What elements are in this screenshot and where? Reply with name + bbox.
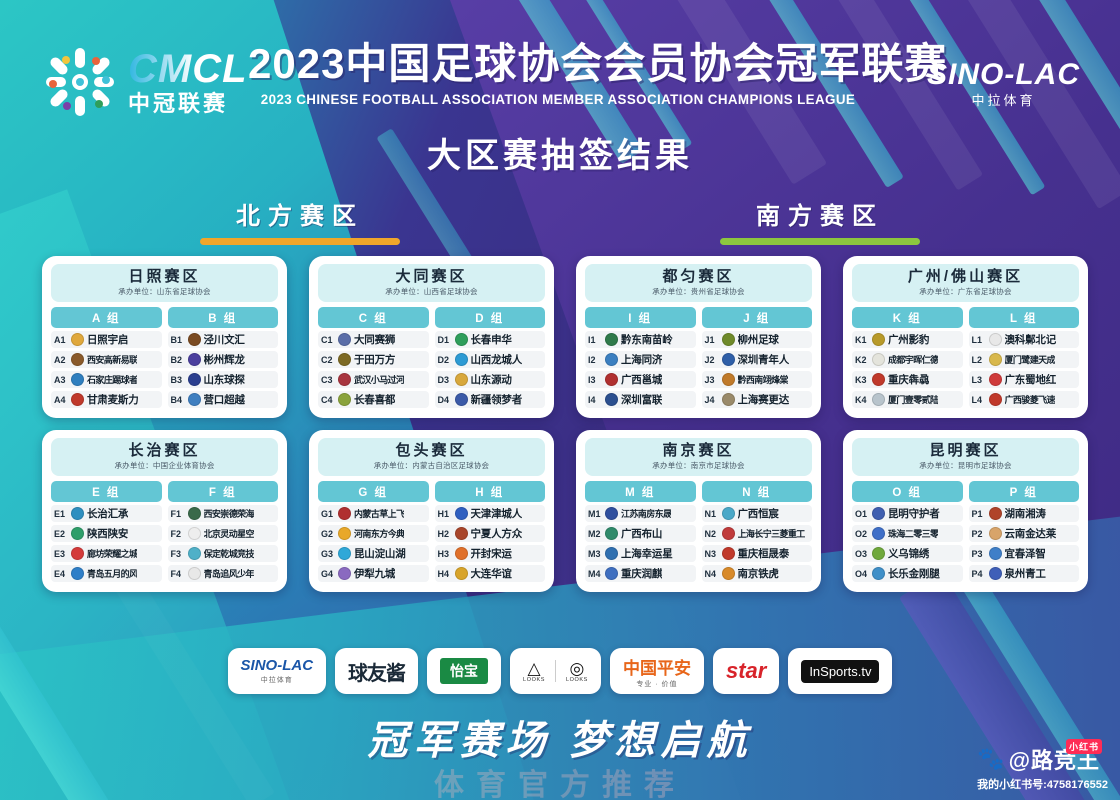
team-code: J1	[705, 335, 719, 345]
team-row[interactable]: L1澳科鄡北记	[969, 331, 1080, 348]
team-crest-icon	[605, 373, 618, 386]
team-code: I4	[588, 395, 602, 405]
team-code: O4	[855, 569, 869, 579]
team-code: I2	[588, 355, 602, 365]
looks-triangle-icon: △	[523, 660, 545, 677]
team-code: D2	[438, 355, 452, 365]
team-row[interactable]: B2彬州辉龙	[168, 351, 279, 368]
group-column: H 组H1天津津城人H2宁夏人方众H3开封宋运H4大连华谊	[435, 481, 546, 583]
team-row[interactable]: P1湖南湘涛	[969, 505, 1080, 522]
team-row[interactable]: E4青岛五月的风	[51, 565, 162, 582]
group-column: K 组K1广州影豹K2成都宇晖仁德K3重庆犇骉K4厦门壹零贰陆	[852, 307, 963, 409]
team-row[interactable]: I1黔东南苗岭	[585, 331, 696, 348]
team-crest-icon	[188, 333, 201, 346]
team-name: 上海长宁三菱重工	[738, 527, 805, 540]
team-crest-icon	[71, 567, 84, 580]
venue-name: 广州/佛山赛区	[852, 268, 1079, 285]
team-crest-icon	[605, 507, 618, 520]
venue-card-header: 日照赛区承办单位：山东省足球协会	[51, 264, 278, 302]
team-row[interactable]: P4泉州青工	[969, 565, 1080, 582]
group-columns: O 组O1昆明守护者O2珠海二零三零O3义乌锦绣O4长乐金刚腿P 组P1湖南湘涛…	[852, 481, 1079, 583]
team-row[interactable]: N1广西恒宸	[702, 505, 813, 522]
looks-label-a: LOOKS	[523, 677, 545, 683]
group-column: P 组P1湖南湘涛P2云南金达莱P3宜春泽智P4泉州青工	[969, 481, 1080, 583]
venue-card-header: 大同赛区承办单位：山西省足球协会	[318, 264, 545, 302]
group-columns: I 组I1黔东南苗岭I2上海同济I3广西邕城I4深圳富联J 组J1柳州足球J2深…	[585, 307, 812, 409]
team-row[interactable]: P2云南金达莱	[969, 525, 1080, 542]
poster: CMCL 中冠联赛 2023中国足球协会会员协会冠军联赛 2023 CHINES…	[0, 0, 1120, 800]
sponsor-insports-name: InSports.tv	[801, 660, 879, 683]
section-subtitle-text: 大区赛抽签结果	[427, 128, 693, 177]
team-crest-icon	[722, 353, 735, 366]
team-row[interactable]: A3石家庄踢球者	[51, 371, 162, 388]
team-name: 义乌锦绣	[888, 546, 929, 561]
team-name: 广西布山	[621, 526, 662, 541]
team-crest-icon	[188, 527, 201, 540]
cmcl-wordmark-cn: 中冠联赛	[128, 93, 248, 115]
sponsor-star-name: star	[726, 658, 766, 684]
team-code: I1	[588, 335, 602, 345]
team-row[interactable]: G4伊犁九城	[318, 565, 429, 582]
team-crest-icon	[338, 547, 351, 560]
team-name: 上海赛更达	[738, 392, 790, 407]
team-code: N1	[705, 509, 719, 519]
team-row[interactable]: J4上海赛更达	[702, 391, 813, 408]
group-title: O 组	[852, 481, 963, 502]
group-column: O 组O1昆明守护者O2珠海二零三零O3义乌锦绣O4长乐金刚腿	[852, 481, 963, 583]
team-code: B3	[171, 375, 185, 385]
team-name: 深圳富联	[621, 392, 662, 407]
team-row[interactable]: L4广西骏菱飞速	[969, 391, 1080, 408]
venue-name: 长治赛区	[51, 442, 278, 459]
team-code: E2	[54, 529, 68, 539]
team-name: 厦门鹭建天成	[1005, 353, 1055, 366]
sponsor-yibao-name: 怡宝	[440, 658, 488, 684]
team-crest-icon	[338, 507, 351, 520]
cmcl-logo: CMCL 中冠联赛	[42, 44, 248, 120]
team-row[interactable]: J1柳州足球	[702, 331, 813, 348]
team-row[interactable]: J3黔西南翊烽棠	[702, 371, 813, 388]
team-crest-icon	[71, 333, 84, 346]
team-name: 西安高新易联	[87, 353, 137, 366]
team-name: 广西邕城	[621, 372, 662, 387]
sponsor-sino-lac[interactable]: SINO-LAC 中拉体育	[228, 648, 327, 694]
sponsor-qiuyoujiang[interactable]: 球友酱	[335, 648, 418, 694]
team-name: 天津津城人	[471, 506, 523, 521]
team-row[interactable]: M2广西布山	[585, 525, 696, 542]
group-title: B 组	[168, 307, 279, 328]
venue-card: 日照赛区承办单位：山东省足球协会A 组A1日照宇启A2西安高新易联A3石家庄踢球…	[42, 256, 287, 418]
team-row[interactable]: O4长乐金刚腿	[852, 565, 963, 582]
team-code: J4	[705, 395, 719, 405]
team-code: J3	[705, 375, 719, 385]
team-crest-icon	[338, 333, 351, 346]
team-row[interactable]: E1长治汇承	[51, 505, 162, 522]
team-row[interactable]: E2陕西陕安	[51, 525, 162, 542]
team-crest-icon	[722, 373, 735, 386]
sponsor-pingan-sub: 专业 · 价值	[623, 679, 691, 689]
team-code: K1	[855, 335, 869, 345]
team-code: D1	[438, 335, 452, 345]
team-row[interactable]: N3重庆桓晟泰	[702, 545, 813, 562]
team-row[interactable]: F4青岛追风少年	[168, 565, 279, 582]
team-crest-icon	[455, 353, 468, 366]
team-row[interactable]: G3昆山淀山湖	[318, 545, 429, 562]
team-code: B2	[171, 355, 185, 365]
venue-card-header: 包头赛区承办单位：内蒙古自治区足球协会	[318, 438, 545, 476]
team-crest-icon	[872, 393, 885, 406]
looks-label-b: LOOKS	[566, 677, 588, 683]
team-code: A2	[54, 355, 68, 365]
team-row[interactable]: F3保定乾城竞技	[168, 545, 279, 562]
team-code: O3	[855, 549, 869, 559]
team-crest-icon	[71, 393, 84, 406]
team-code: M4	[588, 569, 602, 579]
team-name: 山西龙城人	[471, 352, 523, 367]
team-code: F1	[171, 509, 185, 519]
team-name: 青岛五月的风	[87, 567, 137, 580]
team-name: 成都宇晖仁德	[888, 353, 938, 366]
team-name: 山东源动	[471, 372, 512, 387]
group-column: L 组L1澳科鄡北记L2厦门鹭建天成L3广东蜀地红L4广西骏菱飞速	[969, 307, 1080, 409]
team-row[interactable]: I2上海同济	[585, 351, 696, 368]
team-code: H4	[438, 569, 452, 579]
venue-host: 承办单位：山东省足球协会	[51, 286, 278, 297]
group-title: H 组	[435, 481, 546, 502]
team-code: N3	[705, 549, 719, 559]
team-row[interactable]: O2珠海二零三零	[852, 525, 963, 542]
venue-card-header: 广州/佛山赛区承办单位：广东省足球协会	[852, 264, 1079, 302]
team-code: F2	[171, 529, 185, 539]
team-row[interactable]: M3上海幸运星	[585, 545, 696, 562]
venue-host: 承办单位：山西省足球协会	[318, 286, 545, 297]
team-name: 黔东南苗岭	[621, 332, 673, 347]
cmcl-wordmark-en: CMCL	[128, 49, 248, 89]
team-row[interactable]: H1天津津城人	[435, 505, 546, 522]
region-label-north: 北方赛区	[200, 196, 400, 231]
team-name: 澳科鄡北记	[1005, 332, 1057, 347]
team-crest-icon	[872, 547, 885, 560]
venue-card-header: 都匀赛区承办单位：贵州省足球协会	[585, 264, 812, 302]
venue-name: 大同赛区	[318, 268, 545, 285]
team-code: A1	[54, 335, 68, 345]
team-name: 泾川文汇	[204, 332, 245, 347]
team-row[interactable]: O1昆明守护者	[852, 505, 963, 522]
cmcl-wordmark: CMCL 中冠联赛	[128, 49, 248, 115]
group-title: K 组	[852, 307, 963, 328]
team-crest-icon	[455, 393, 468, 406]
region-label-south: 南方赛区	[720, 196, 920, 231]
team-row[interactable]: P3宜春泽智	[969, 545, 1080, 562]
team-row[interactable]: A4甘肃麦斯力	[51, 391, 162, 408]
team-name: 广州影豹	[888, 332, 929, 347]
team-row[interactable]: C3武汉小马过河	[318, 371, 429, 388]
team-row[interactable]: F2北京灵动星空	[168, 525, 279, 542]
team-crest-icon	[188, 393, 201, 406]
team-code: P2	[972, 529, 986, 539]
team-row[interactable]: A1日照宇启	[51, 331, 162, 348]
team-row[interactable]: K2成都宇晖仁德	[852, 351, 963, 368]
team-row[interactable]: I4深圳富联	[585, 391, 696, 408]
team-row[interactable]: G2河南东方今典	[318, 525, 429, 542]
team-code: C3	[321, 375, 335, 385]
section-subtitle: 大区赛抽签结果	[0, 128, 1120, 177]
venue-host: 承办单位：广东省足球协会	[852, 286, 1079, 297]
venue-card: 广州/佛山赛区承办单位：广东省足球协会K 组K1广州影豹K2成都宇晖仁德K3重庆…	[843, 256, 1088, 418]
team-name: 广东蜀地红	[1005, 372, 1057, 387]
team-row[interactable]: C1大同赛狮	[318, 331, 429, 348]
team-name: 甘肃麦斯力	[87, 392, 139, 407]
team-name: 昆山淀山湖	[354, 546, 406, 561]
team-crest-icon	[722, 507, 735, 520]
team-code: F3	[171, 549, 185, 559]
team-row[interactable]: G1内蒙古草上飞	[318, 505, 429, 522]
venue-card-header: 南京赛区承办单位：南京市足球协会	[585, 438, 812, 476]
footer-slogan: 冠军赛场 梦想启航	[0, 708, 1120, 766]
page-title: 2023中国足球协会会员协会冠军联赛 2023 CHINESE FOOTBALL…	[248, 42, 868, 107]
team-code: P4	[972, 569, 986, 579]
team-name: 彬州辉龙	[204, 352, 245, 367]
team-code: N2	[705, 529, 719, 539]
team-name: 青岛追风少年	[204, 567, 254, 580]
sponsor-insports[interactable]: InSports.tv	[788, 648, 892, 694]
team-crest-icon	[605, 353, 618, 366]
team-name: 武汉小马过河	[354, 373, 404, 386]
team-row[interactable]: D2山西龙城人	[435, 351, 546, 368]
team-crest-icon	[872, 527, 885, 540]
team-name: 重庆润麒	[621, 566, 662, 581]
team-name: 日照宇启	[87, 332, 128, 347]
team-name: 重庆桓晟泰	[738, 546, 790, 561]
team-row[interactable]: K3重庆犇骉	[852, 371, 963, 388]
venue-card: 大同赛区承办单位：山西省足球协会C 组C1大同赛狮C2于田万方C3武汉小马过河C…	[309, 256, 554, 418]
team-name: 宜春泽智	[1005, 546, 1046, 561]
team-row[interactable]: H2宁夏人方众	[435, 525, 546, 542]
team-crest-icon	[989, 393, 1002, 406]
team-name: 开封宋运	[471, 546, 512, 561]
team-row[interactable]: M4重庆润麒	[585, 565, 696, 582]
team-row[interactable]: N2上海长宁三菱重工	[702, 525, 813, 542]
team-crest-icon	[188, 547, 201, 560]
cmcl-snowflake-icon	[42, 44, 118, 120]
team-crest-icon	[722, 527, 735, 540]
looks-mark-a: △ LOOKS	[523, 660, 545, 683]
team-code: O2	[855, 529, 869, 539]
team-row[interactable]: B1泾川文汇	[168, 331, 279, 348]
team-code: G2	[321, 529, 335, 539]
team-crest-icon	[455, 527, 468, 540]
team-code: G4	[321, 569, 335, 579]
team-row[interactable]: K1广州影豹	[852, 331, 963, 348]
header: CMCL 中冠联赛 2023中国足球协会会员协会冠军联赛 2023 CHINES…	[0, 0, 1120, 130]
team-name: 内蒙古草上飞	[354, 507, 404, 520]
team-row[interactable]: I3广西邕城	[585, 371, 696, 388]
group-title: M 组	[585, 481, 696, 502]
team-crest-icon	[605, 547, 618, 560]
team-row[interactable]: L3广东蜀地红	[969, 371, 1080, 388]
group-column: B 组B1泾川文汇B2彬州辉龙B3山东球探B4营口超越	[168, 307, 279, 409]
group-title: N 组	[702, 481, 813, 502]
team-code: B4	[171, 395, 185, 405]
team-name: 长春喜都	[354, 392, 395, 407]
team-crest-icon	[605, 567, 618, 580]
team-row[interactable]: C4长春喜都	[318, 391, 429, 408]
watermark-handle-row: 🐾 @路竞王 小红书	[977, 743, 1108, 775]
team-code: E3	[54, 549, 68, 559]
watermark-id: 我的小红书号:4758176552	[977, 776, 1108, 792]
sino-lac-wordmark-en: SINO-LAC	[927, 58, 1080, 92]
team-crest-icon	[605, 333, 618, 346]
team-code: C1	[321, 335, 335, 345]
group-title: C 组	[318, 307, 429, 328]
team-name: 西安崇德荣海	[204, 507, 254, 520]
venue-card: 都匀赛区承办单位：贵州省足球协会I 组I1黔东南苗岭I2上海同济I3广西邕城I4…	[576, 256, 821, 418]
team-row[interactable]: B3山东球探	[168, 371, 279, 388]
group-column: J 组J1柳州足球J2深圳青年人J3黔西南翊烽棠J4上海赛更达	[702, 307, 813, 409]
team-crest-icon	[71, 353, 84, 366]
team-row[interactable]: B4营口超越	[168, 391, 279, 408]
team-code: L1	[972, 335, 986, 345]
paw-icon: 🐾	[977, 746, 1005, 772]
team-crest-icon	[188, 353, 201, 366]
team-crest-icon	[989, 333, 1002, 346]
team-name: 湖南湘涛	[1005, 506, 1046, 521]
team-crest-icon	[872, 567, 885, 580]
team-code: E4	[54, 569, 68, 579]
team-code: M2	[588, 529, 602, 539]
team-code: P1	[972, 509, 986, 519]
team-name: 新疆领梦者	[471, 392, 523, 407]
team-crest-icon	[71, 547, 84, 560]
team-code: D3	[438, 375, 452, 385]
team-code: C2	[321, 355, 335, 365]
team-code: P3	[972, 549, 986, 559]
venue-host: 承办单位：昆明市足球协会	[852, 460, 1079, 471]
sponsor-looks[interactable]: △ LOOKS ◎ LOOKS	[510, 648, 601, 694]
page-title-en: 2023 CHINESE FOOTBALL ASSOCIATION MEMBER…	[251, 92, 865, 107]
team-crest-icon	[989, 373, 1002, 386]
team-crest-icon	[989, 353, 1002, 366]
team-crest-icon	[872, 507, 885, 520]
team-code: G1	[321, 509, 335, 519]
team-crest-icon	[455, 547, 468, 560]
team-row[interactable]: A2西安高新易联	[51, 351, 162, 368]
venue-name: 包头赛区	[318, 442, 545, 459]
region-underline-north	[200, 238, 400, 245]
team-row[interactable]: D4新疆领梦者	[435, 391, 546, 408]
region-header-south: 南方赛区	[720, 196, 920, 245]
sponsor-pingan-name: 中国平安	[623, 659, 691, 678]
venue-host: 承办单位：南京市足球协会	[585, 460, 812, 471]
group-column: A 组A1日照宇启A2西安高新易联A3石家庄踢球者A4甘肃麦斯力	[51, 307, 162, 409]
venue-card: 长治赛区承办单位：中国企业体育协会E 组E1长治汇承E2陕西陕安E3廊坊荣耀之城…	[42, 430, 287, 592]
team-row[interactable]: N4南京铁虎	[702, 565, 813, 582]
venue-name: 南京赛区	[585, 442, 812, 459]
group-column: N 组N1广西恒宸N2上海长宁三菱重工N3重庆桓晟泰N4南京铁虎	[702, 481, 813, 583]
team-crest-icon	[722, 393, 735, 406]
team-name: 广西骏菱飞速	[1005, 393, 1055, 406]
team-row[interactable]: O3义乌锦绣	[852, 545, 963, 562]
team-crest-icon	[338, 353, 351, 366]
team-crest-icon	[338, 393, 351, 406]
team-crest-icon	[338, 527, 351, 540]
team-code: L3	[972, 375, 986, 385]
venue-host: 承办单位：内蒙古自治区足球协会	[318, 460, 545, 471]
team-name: 廊坊荣耀之城	[87, 547, 137, 560]
team-crest-icon	[872, 373, 885, 386]
team-crest-icon	[455, 333, 468, 346]
team-name: 江苏南房东晟	[621, 507, 671, 520]
team-name: 云南金达莱	[1005, 526, 1057, 541]
team-crest-icon	[989, 527, 1002, 540]
team-name: 石家庄踢球者	[87, 373, 137, 386]
team-code: B1	[171, 335, 185, 345]
team-name: 陕西陕安	[87, 526, 128, 541]
watermark-account: 🐾 @路竞王 小红书 我的小红书号:4758176552	[977, 743, 1108, 792]
group-column: I 组I1黔东南苗岭I2上海同济I3广西邕城I4深圳富联	[585, 307, 696, 409]
team-code: N4	[705, 569, 719, 579]
looks-circle-icon: ◎	[566, 660, 588, 677]
sponsor-bar: SINO-LAC 中拉体育 球友酱 怡宝 △ LOOKS ◎ LOOKS	[0, 648, 1120, 694]
team-name: 大连华谊	[471, 566, 512, 581]
team-row[interactable]: K4厦门壹零贰陆	[852, 391, 963, 408]
group-column: G 组G1内蒙古草上飞G2河南东方今典G3昆山淀山湖G4伊犁九城	[318, 481, 429, 583]
team-name: 长治汇承	[87, 506, 128, 521]
team-crest-icon	[71, 527, 84, 540]
team-row[interactable]: D3山东源动	[435, 371, 546, 388]
sponsor-sino-lac-name: SINO-LAC	[241, 657, 314, 674]
team-row[interactable]: L2厦门鹭建天成	[969, 351, 1080, 368]
team-row[interactable]: F1西安崇德荣海	[168, 505, 279, 522]
team-crest-icon	[722, 333, 735, 346]
team-crest-icon	[455, 507, 468, 520]
team-code: H1	[438, 509, 452, 519]
team-name: 上海同济	[621, 352, 662, 367]
sponsor-pingan[interactable]: 中国平安 专业 · 价值	[610, 648, 704, 694]
team-crest-icon	[188, 507, 201, 520]
looks-mark-b: ◎ LOOKS	[566, 660, 588, 683]
sino-lac-logo: SINO-LAC 中拉体育	[927, 58, 1080, 109]
venue-card-header: 昆明赛区承办单位：昆明市足球协会	[852, 438, 1079, 476]
sponsor-star[interactable]: star	[713, 648, 779, 694]
team-row[interactable]: C2于田万方	[318, 351, 429, 368]
team-name: 于田万方	[354, 352, 395, 367]
footer-slogan-text: 冠军赛场 梦想启航	[367, 719, 752, 763]
team-row[interactable]: M1江苏南房东晟	[585, 505, 696, 522]
sponsor-yibao[interactable]: 怡宝	[427, 648, 501, 694]
team-code: L4	[972, 395, 986, 405]
team-row[interactable]: H3开封宋运	[435, 545, 546, 562]
team-crest-icon	[188, 567, 201, 580]
group-columns: A 组A1日照宇启A2西安高新易联A3石家庄踢球者A4甘肃麦斯力B 组B1泾川文…	[51, 307, 278, 409]
team-name: 长乐金刚腿	[888, 566, 940, 581]
team-crest-icon	[989, 507, 1002, 520]
venue-name: 都匀赛区	[585, 268, 812, 285]
group-columns: G 组G1内蒙古草上飞G2河南东方今典G3昆山淀山湖G4伊犁九城H 组H1天津津…	[318, 481, 545, 583]
group-title: E 组	[51, 481, 162, 502]
team-code: E1	[54, 509, 68, 519]
team-row[interactable]: D1长春申华	[435, 331, 546, 348]
team-crest-icon	[71, 507, 84, 520]
team-row[interactable]: E3廊坊荣耀之城	[51, 545, 162, 562]
group-columns: E 组E1长治汇承E2陕西陕安E3廊坊荣耀之城E4青岛五月的风F 组F1西安崇德…	[51, 481, 278, 583]
team-row[interactable]: J2深圳青年人	[702, 351, 813, 368]
team-row[interactable]: H4大连华谊	[435, 565, 546, 582]
group-column: C 组C1大同赛狮C2于田万方C3武汉小马过河C4长春喜都	[318, 307, 429, 409]
team-name: 珠海二零三零	[888, 527, 938, 540]
group-columns: M 组M1江苏南房东晟M2广西布山M3上海幸运星M4重庆润麒N 组N1广西恒宸N…	[585, 481, 812, 583]
sino-lac-wordmark-cn: 中拉体育	[927, 90, 1080, 109]
